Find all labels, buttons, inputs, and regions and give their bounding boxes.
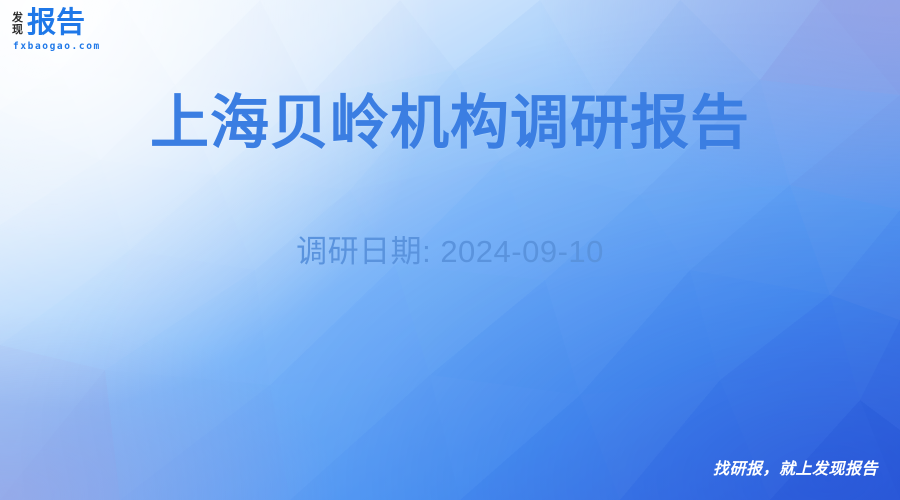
page-title: 上海贝岭机构调研报告 [0, 88, 900, 158]
survey-date-subtitle: 调研日期: 2024-09-10 [0, 232, 900, 272]
logo-char-xian: 现 [12, 24, 23, 36]
footer-slogan: 找研报，就上发现报告 [713, 460, 878, 480]
logo-domain-text: fxbaogao.com [13, 41, 101, 52]
brand-logo[interactable]: 发 现 报告 fxbaogao.com [12, 9, 101, 52]
subtitle-block: 调研日期: 2024-09-10 [0, 232, 900, 272]
logo-char-fa: 发 [12, 12, 23, 24]
logo-wordmark-row: 发 现 报告 [12, 9, 85, 38]
title-block: 上海贝岭机构调研报告 [0, 88, 900, 158]
logo-wordmark: 报告 [27, 9, 85, 38]
report-cover-slide: 发 现 报告 fxbaogao.com 上海贝岭机构调研报告 调研日期: 202… [0, 0, 900, 500]
logo-stacked-characters: 发 现 [12, 12, 23, 36]
